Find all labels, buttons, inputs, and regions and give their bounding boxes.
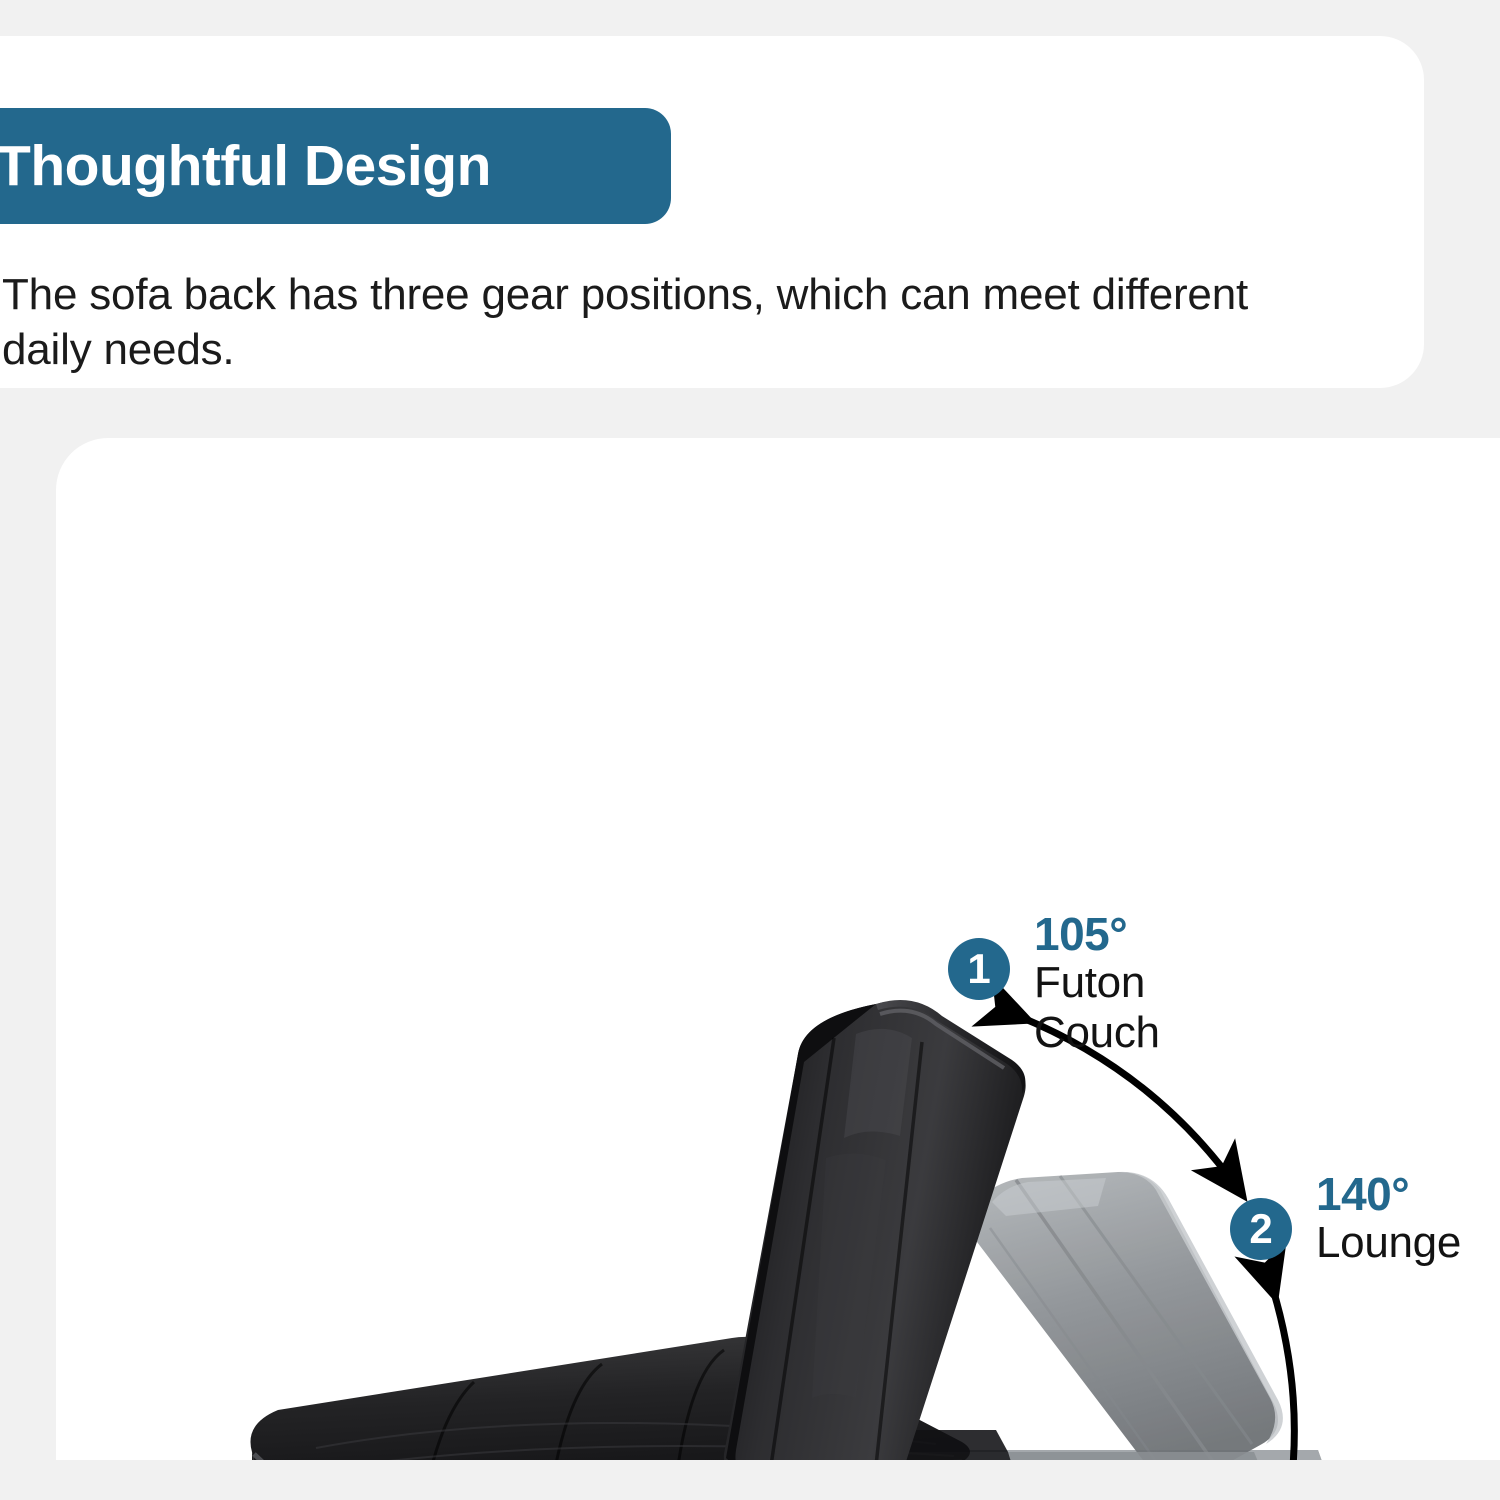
ghost-seat-plane — [876, 1452, 1268, 1460]
sofa-diagram-illustration — [56, 438, 1500, 1460]
ghost-platform-bed-180 — [940, 1450, 1328, 1460]
callout-2-angle: 140° — [1316, 1170, 1461, 1218]
callout-1-text: 105° Futon Couch — [1034, 910, 1160, 1057]
page-title: Thoughtful Design — [0, 138, 491, 195]
composite-shadow-wedge — [846, 1430, 1062, 1460]
callout-2-text: 140° Lounge — [1316, 1170, 1461, 1268]
backrest-105 — [716, 1000, 1026, 1460]
seat-cushion — [246, 1337, 974, 1460]
header-card: Thoughtful Design The sofa back has thre… — [0, 36, 1424, 388]
subtitle-text: The sofa back has three gear positions, … — [2, 268, 1302, 377]
arrow-140-to-180 — [1272, 1286, 1294, 1460]
callout-1: 1 105° Futon Couch — [948, 938, 1010, 1000]
callout-2: 2 140° Lounge — [1230, 1198, 1292, 1260]
diagram-card: 1 105° Futon Couch 2 140° Lounge 3 180° … — [56, 438, 1500, 1460]
callout-2-badge: 2 — [1230, 1198, 1292, 1260]
callout-2-name: Lounge — [1316, 1218, 1461, 1267]
headline-banner: Thoughtful Design — [0, 108, 671, 224]
callout-1-angle: 105° — [1034, 910, 1160, 958]
callout-1-badge: 1 — [948, 938, 1010, 1000]
callout-1-name: Futon Couch — [1034, 958, 1160, 1057]
